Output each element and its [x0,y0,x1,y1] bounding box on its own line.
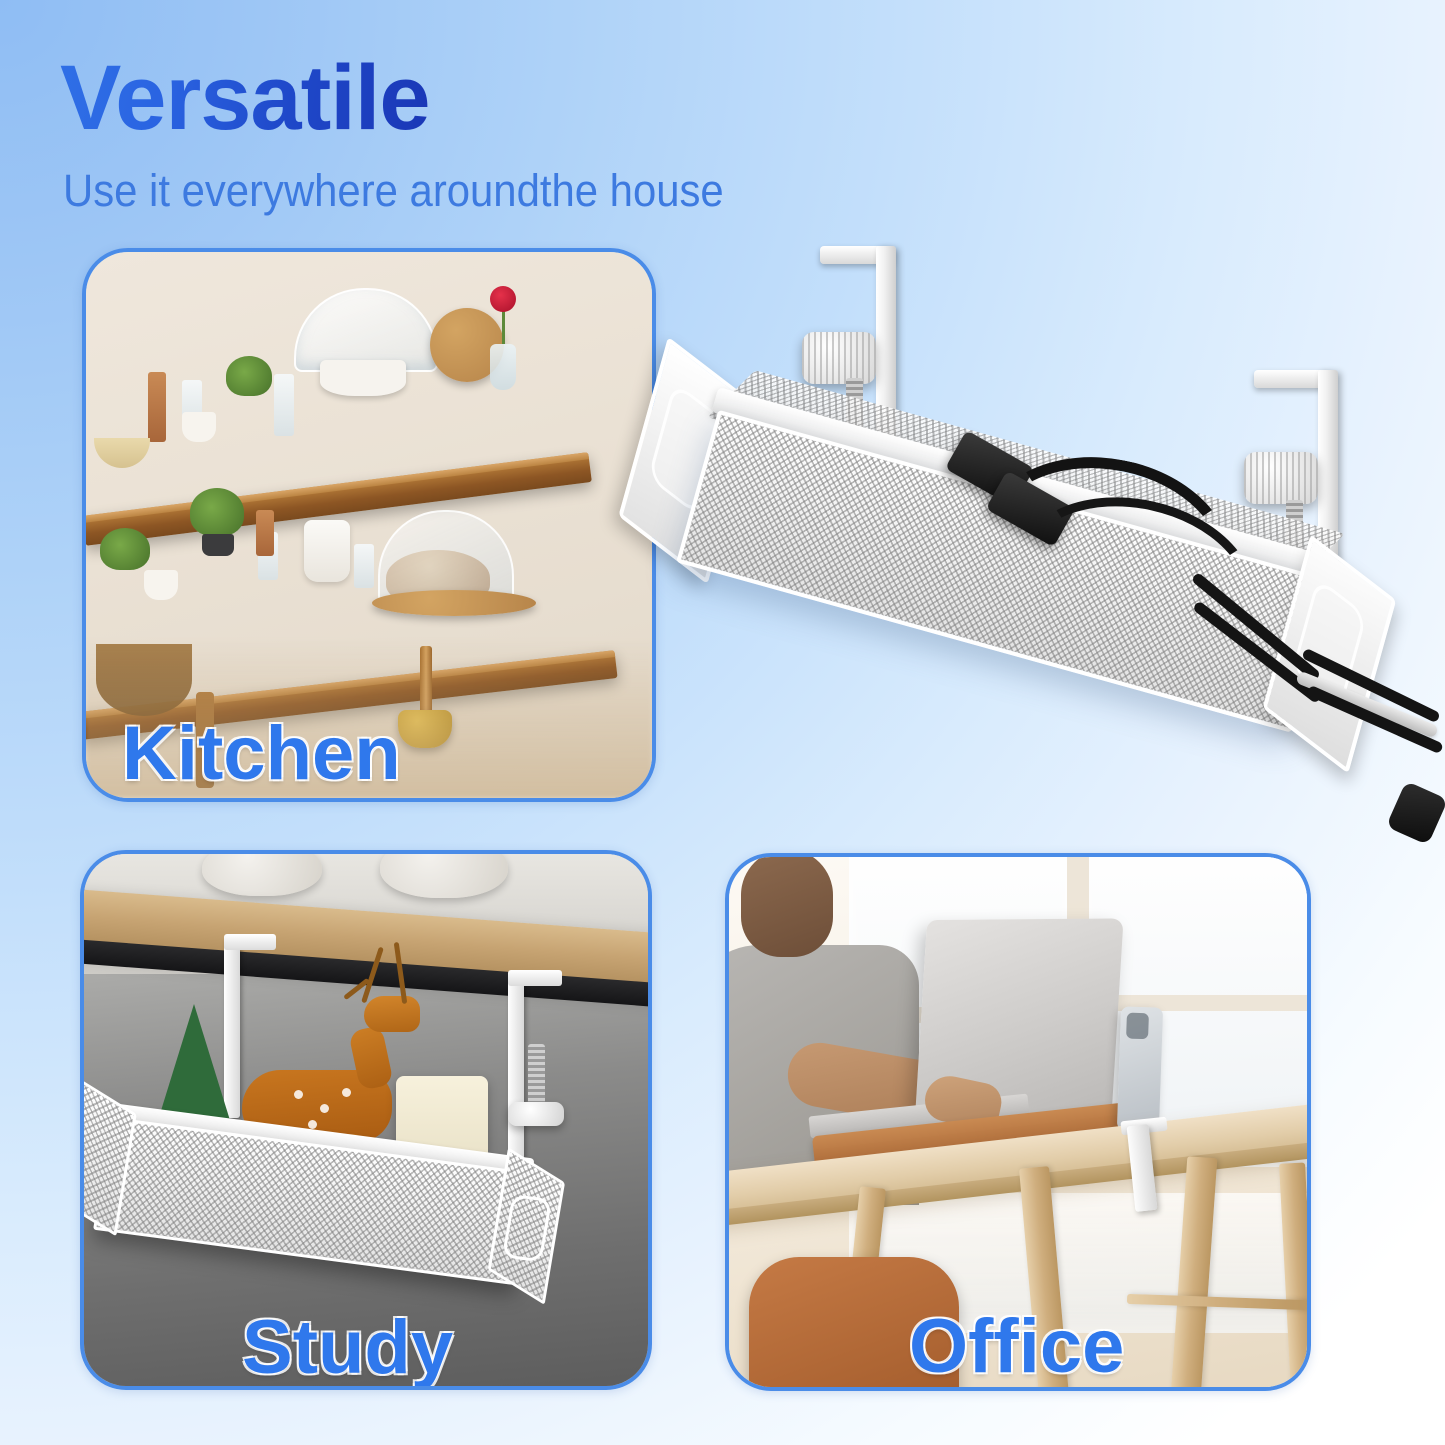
small-cup [144,570,178,600]
eucalyptus-sprig [100,528,150,570]
glass-carafe [354,544,374,588]
rose-stem [502,310,505,344]
study-clamp-screw [528,1044,545,1106]
scene-panel-office[interactable]: Office [725,853,1311,1391]
red-rose [490,286,516,312]
cake-stand [320,360,406,396]
page-title: Versatile [60,52,430,144]
white-mug [182,412,216,442]
white-pitcher [304,520,350,582]
cable-tray-hero [677,367,1338,728]
smartphone [1117,1006,1163,1131]
infographic-canvas: Versatile Use it everywhere aroundthe ho… [0,0,1445,1445]
dried-flowers [226,356,272,396]
potted-herb [190,488,244,536]
table-lamp-right [380,850,508,898]
window-mullion-horizontal-right [1085,995,1311,1011]
tray-bracket-right-hook [508,970,562,986]
panel-label-office: Office [909,1309,1124,1385]
scene-panel-study[interactable]: Study [80,850,652,1390]
table-lamp-left [202,850,322,896]
bud-vase [490,344,516,390]
panel-label-study: Study [242,1310,453,1386]
copper-tin [256,510,274,556]
product-hero-image [680,228,1440,878]
copper-canister [148,372,166,442]
tray-bracket-left-hook [224,934,276,950]
page-subtitle: Use it everywhere aroundthe house [63,168,724,213]
study-clamp-foot [508,1102,564,1126]
phone-camera-icon [1126,1013,1149,1040]
panel-label-kitchen: Kitchen [122,716,401,792]
plant-pot [202,534,234,556]
cord-end-connector [1386,781,1445,845]
left-clamp-knob [802,332,876,384]
deer-head [364,996,420,1032]
glass-jar [274,374,294,436]
scene-panel-kitchen[interactable]: Kitchen [82,248,656,802]
right-clamp-knob [1244,452,1318,504]
serving-board [372,590,536,616]
